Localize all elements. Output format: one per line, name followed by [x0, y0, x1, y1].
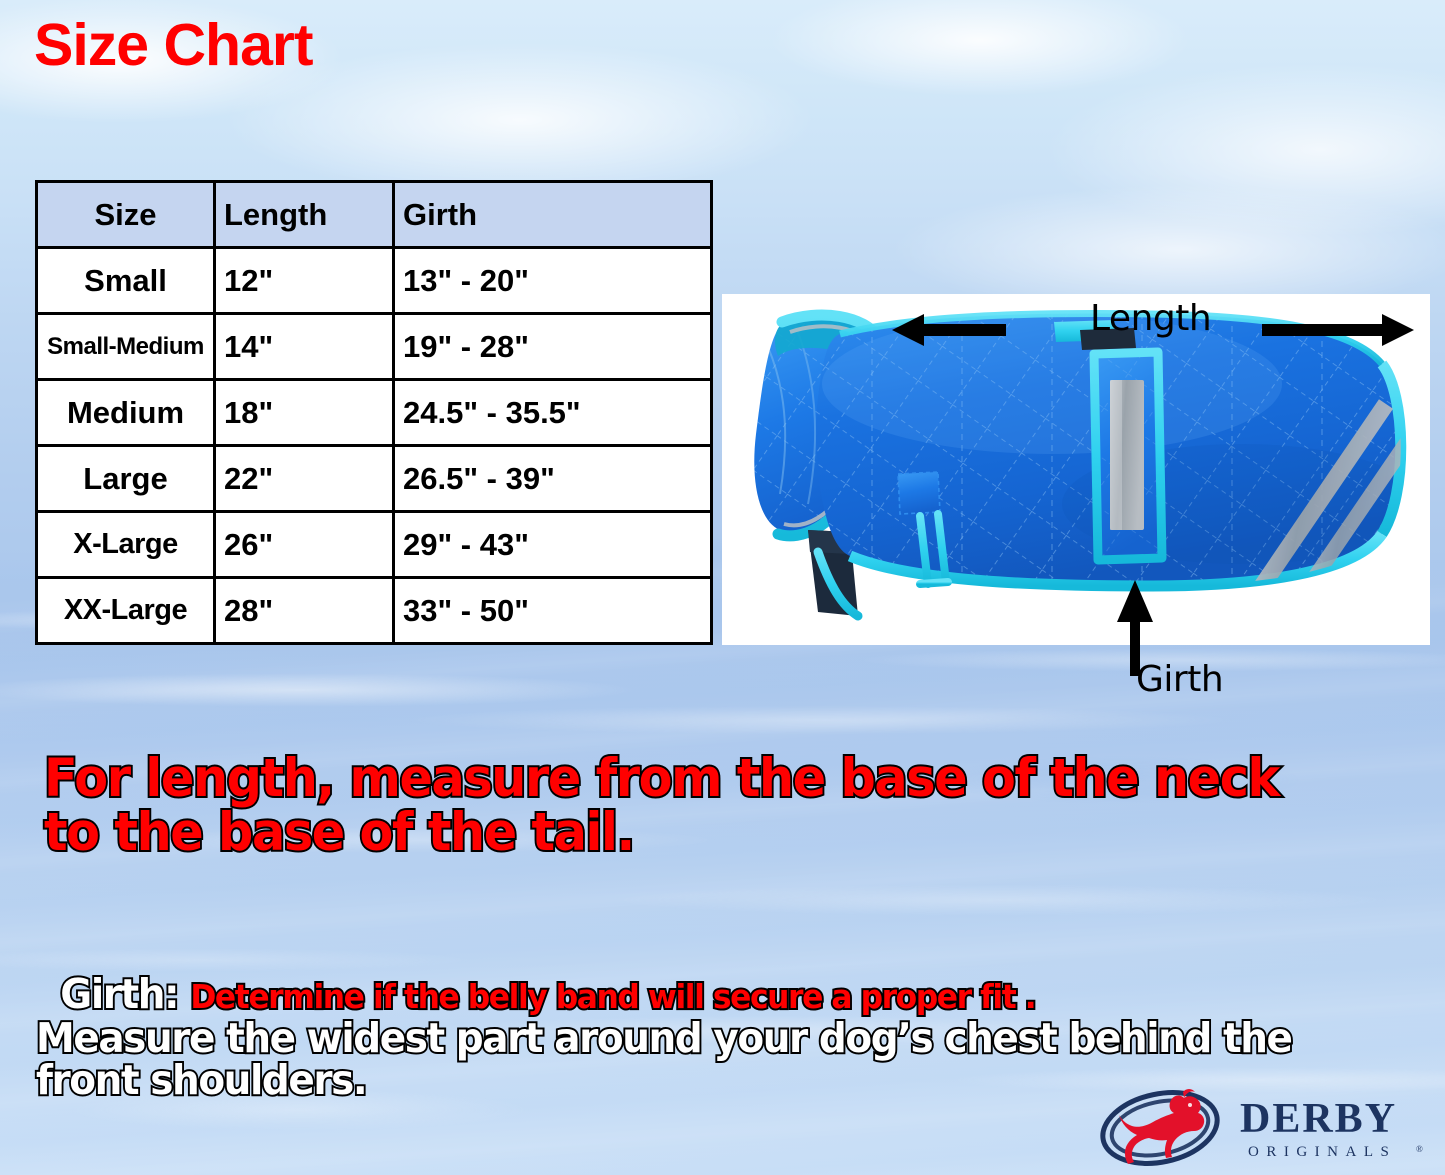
coat-velcro-tab — [898, 472, 940, 514]
product-diagram-panel: Length — [722, 294, 1430, 645]
size-chart-table: Size Length Girth Small 12" 13" - 20" Sm… — [35, 180, 713, 645]
derby-originals-logo: DERBY ORIGINALS ® — [1098, 1084, 1430, 1172]
size-chart-table-container: Size Length Girth Small 12" 13" - 20" Sm… — [35, 180, 713, 645]
cell-length: 14" — [215, 314, 394, 380]
table-row: Large 22" 26.5" - 39" — [37, 446, 712, 512]
cell-girth: 13" - 20" — [394, 248, 712, 314]
cell-length: 18" — [215, 380, 394, 446]
cell-size: XX-Large — [37, 578, 215, 644]
cell-size: Medium — [37, 380, 215, 446]
table-row: Small 12" 13" - 20" — [37, 248, 712, 314]
cell-size: Large — [37, 446, 215, 512]
table-header-row: Size Length Girth — [37, 182, 712, 248]
cell-girth: 26.5" - 39" — [394, 446, 712, 512]
cell-size: X-Large — [37, 512, 215, 578]
coat-belly-band — [1094, 352, 1162, 560]
girth-instruction-line: Girth: Determine if the belly band will … — [36, 932, 1357, 1016]
cell-length: 22" — [215, 446, 394, 512]
table-row: X-Large 26" 29" - 43" — [37, 512, 712, 578]
cell-girth: 24.5" - 35.5" — [394, 380, 712, 446]
cell-length: 12" — [215, 248, 394, 314]
table-row: Small-Medium 14" 19" - 28" — [37, 314, 712, 380]
cell-girth: 19" - 28" — [394, 314, 712, 380]
table-row: Medium 18" 24.5" - 35.5" — [37, 380, 712, 446]
cell-girth: 33" - 50" — [394, 578, 712, 644]
girth-label: Girth — [1136, 659, 1223, 700]
page-title: Size Chart — [34, 16, 313, 75]
logo-sub-text: ORIGINALS — [1248, 1144, 1396, 1160]
cell-size: Small-Medium — [37, 314, 215, 380]
table-row: XX-Large 28" 33" - 50" — [37, 578, 712, 644]
length-label: Length — [1090, 298, 1211, 339]
logo-registered-mark: ® — [1416, 1144, 1423, 1154]
length-instruction-text: For length, measure from the base of the… — [44, 752, 1309, 860]
column-header-girth: Girth — [394, 182, 712, 248]
cell-length: 26" — [215, 512, 394, 578]
cell-girth: 29" - 43" — [394, 512, 712, 578]
cell-length: 28" — [215, 578, 394, 644]
girth-instruction-label: Girth: — [60, 970, 190, 1018]
logo-brand-text: DERBY — [1240, 1096, 1397, 1142]
column-header-size: Size — [37, 182, 215, 248]
cell-size: Small — [37, 248, 215, 314]
column-header-length: Length — [215, 182, 394, 248]
girth-instruction-body: Determine if the belly band will secure … — [190, 977, 1035, 1016]
